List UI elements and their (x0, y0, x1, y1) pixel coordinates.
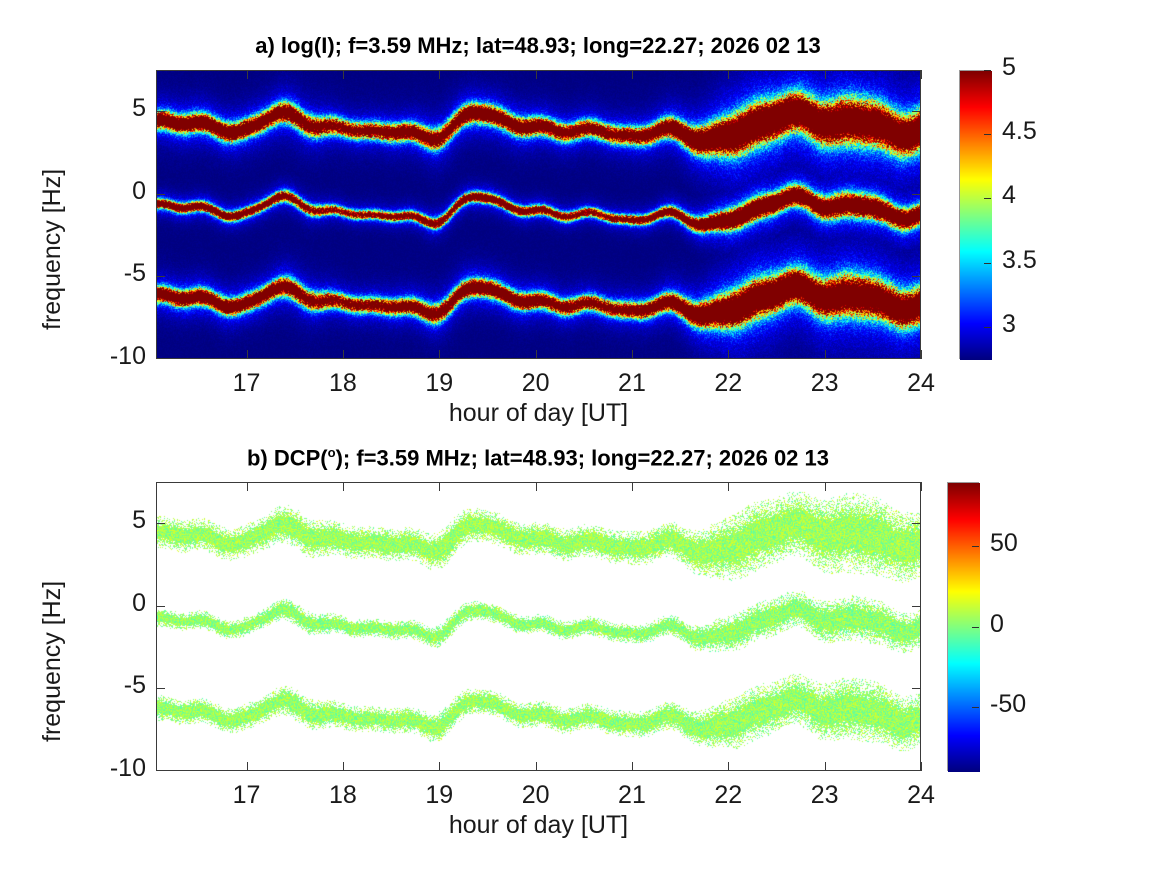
xtick-mark (343, 350, 344, 359)
xtick-mark-top (728, 70, 729, 79)
ytick-mark (156, 606, 165, 607)
panel-a-xlabel: hour of day [UT] (156, 399, 921, 428)
colorbar-tick-mark (972, 707, 979, 708)
xtick-label: 21 (592, 781, 672, 810)
figure-root: a) log(I); f=3.59 MHz; lat=48.93; long=2… (0, 0, 1167, 875)
colorbar-tick-mark (972, 627, 979, 628)
panel-b-axes (156, 482, 921, 771)
xtick-mark-top (343, 482, 344, 491)
ytick-mark (156, 276, 165, 277)
xtick-label: 19 (399, 369, 479, 398)
xtick-mark-top (247, 70, 248, 79)
panel-a-title: a) log(I); f=3.59 MHz; lat=48.93; long=2… (155, 33, 921, 59)
xtick-label: 18 (303, 781, 383, 810)
ytick-mark-right (912, 688, 921, 689)
xtick-mark (343, 762, 344, 771)
colorbar-tick-label: 3.5 (1002, 246, 1037, 275)
xtick-label: 24 (881, 781, 961, 810)
xtick-mark (921, 350, 922, 359)
colorbar-tick-label: 50 (990, 529, 1018, 558)
colorbar-tick-label: 4 (1002, 181, 1016, 210)
xtick-mark-top (247, 482, 248, 491)
xtick-mark (921, 762, 922, 771)
ytick-mark (156, 111, 165, 112)
colorbar-tick-label: 3 (1002, 310, 1016, 339)
xtick-mark-top (921, 482, 922, 491)
ytick-label: -10 (51, 754, 146, 783)
xtick-mark (536, 350, 537, 359)
ytick-mark-right (912, 606, 921, 607)
xtick-label: 22 (688, 781, 768, 810)
xtick-label: 23 (785, 369, 865, 398)
xtick-mark-top (536, 482, 537, 491)
colorbar-tick-mark (984, 198, 991, 199)
xtick-mark-top (343, 70, 344, 79)
colorbar-tick-mark (984, 263, 991, 264)
xtick-mark (632, 762, 633, 771)
ytick-label: 5 (51, 506, 146, 535)
colorbar-tick-label: 5 (1002, 53, 1016, 82)
xtick-mark (536, 762, 537, 771)
ytick-mark-right (912, 276, 921, 277)
ytick-label: -10 (51, 342, 146, 371)
panel-b-title-suffix: ); f=3.59 MHz; lat=48.93; long=22.27; 20… (336, 445, 829, 470)
xtick-label: 17 (207, 781, 287, 810)
ytick-label: 5 (51, 94, 146, 123)
xtick-label: 21 (592, 369, 672, 398)
xtick-mark-top (632, 70, 633, 79)
xtick-label: 24 (881, 369, 961, 398)
panel-b-ylabel: frequency [Hz] (38, 581, 67, 742)
xtick-mark (247, 762, 248, 771)
panel-b-title: b) DCP(o); f=3.59 MHz; lat=48.93; long=2… (155, 445, 921, 471)
colorbar-tick-mark (984, 70, 991, 71)
ytick-mark-right (912, 194, 921, 195)
xtick-mark (632, 350, 633, 359)
xtick-label: 22 (688, 369, 768, 398)
panel-b-heatmap (157, 483, 921, 771)
panel-a-ylabel: frequency [Hz] (38, 169, 67, 330)
colorbar-tick-label: -50 (990, 690, 1026, 719)
xtick-mark (728, 350, 729, 359)
xtick-mark-top (439, 482, 440, 491)
ytick-mark-right (912, 111, 921, 112)
xtick-mark-top (536, 70, 537, 79)
panel-a-colorbar (959, 70, 991, 359)
xtick-mark (247, 350, 248, 359)
panel-a-colorbar-gradient (960, 71, 992, 360)
xtick-mark-top (728, 482, 729, 491)
ytick-mark (156, 523, 165, 524)
xtick-label: 20 (496, 369, 576, 398)
colorbar-tick-mark (984, 134, 991, 135)
colorbar-tick-mark (972, 546, 979, 547)
xtick-label: 17 (207, 369, 287, 398)
colorbar-tick-label: 4.5 (1002, 117, 1037, 146)
colorbar-tick-label: 0 (990, 610, 1004, 639)
ytick-mark-right (912, 523, 921, 524)
xtick-mark-top (632, 482, 633, 491)
xtick-mark (728, 762, 729, 771)
xtick-mark (825, 762, 826, 771)
panel-b-xlabel: hour of day [UT] (156, 811, 921, 840)
xtick-mark-top (825, 70, 826, 79)
xtick-label: 18 (303, 369, 383, 398)
xtick-mark-top (921, 70, 922, 79)
xtick-label: 23 (785, 781, 865, 810)
panel-a-heatmap (157, 71, 921, 359)
xtick-mark-top (439, 70, 440, 79)
panel-b-title-superscript: o (328, 445, 336, 460)
panel-a-axes (156, 70, 921, 359)
xtick-mark (825, 350, 826, 359)
xtick-mark (439, 350, 440, 359)
colorbar-tick-mark (984, 327, 991, 328)
ytick-mark (156, 194, 165, 195)
ytick-mark (156, 688, 165, 689)
xtick-label: 20 (496, 781, 576, 810)
xtick-label: 19 (399, 781, 479, 810)
xtick-mark-top (825, 482, 826, 491)
panel-b-title-prefix: b) DCP( (247, 445, 328, 470)
panel-b-colorbar-gradient (948, 483, 980, 772)
xtick-mark (439, 762, 440, 771)
